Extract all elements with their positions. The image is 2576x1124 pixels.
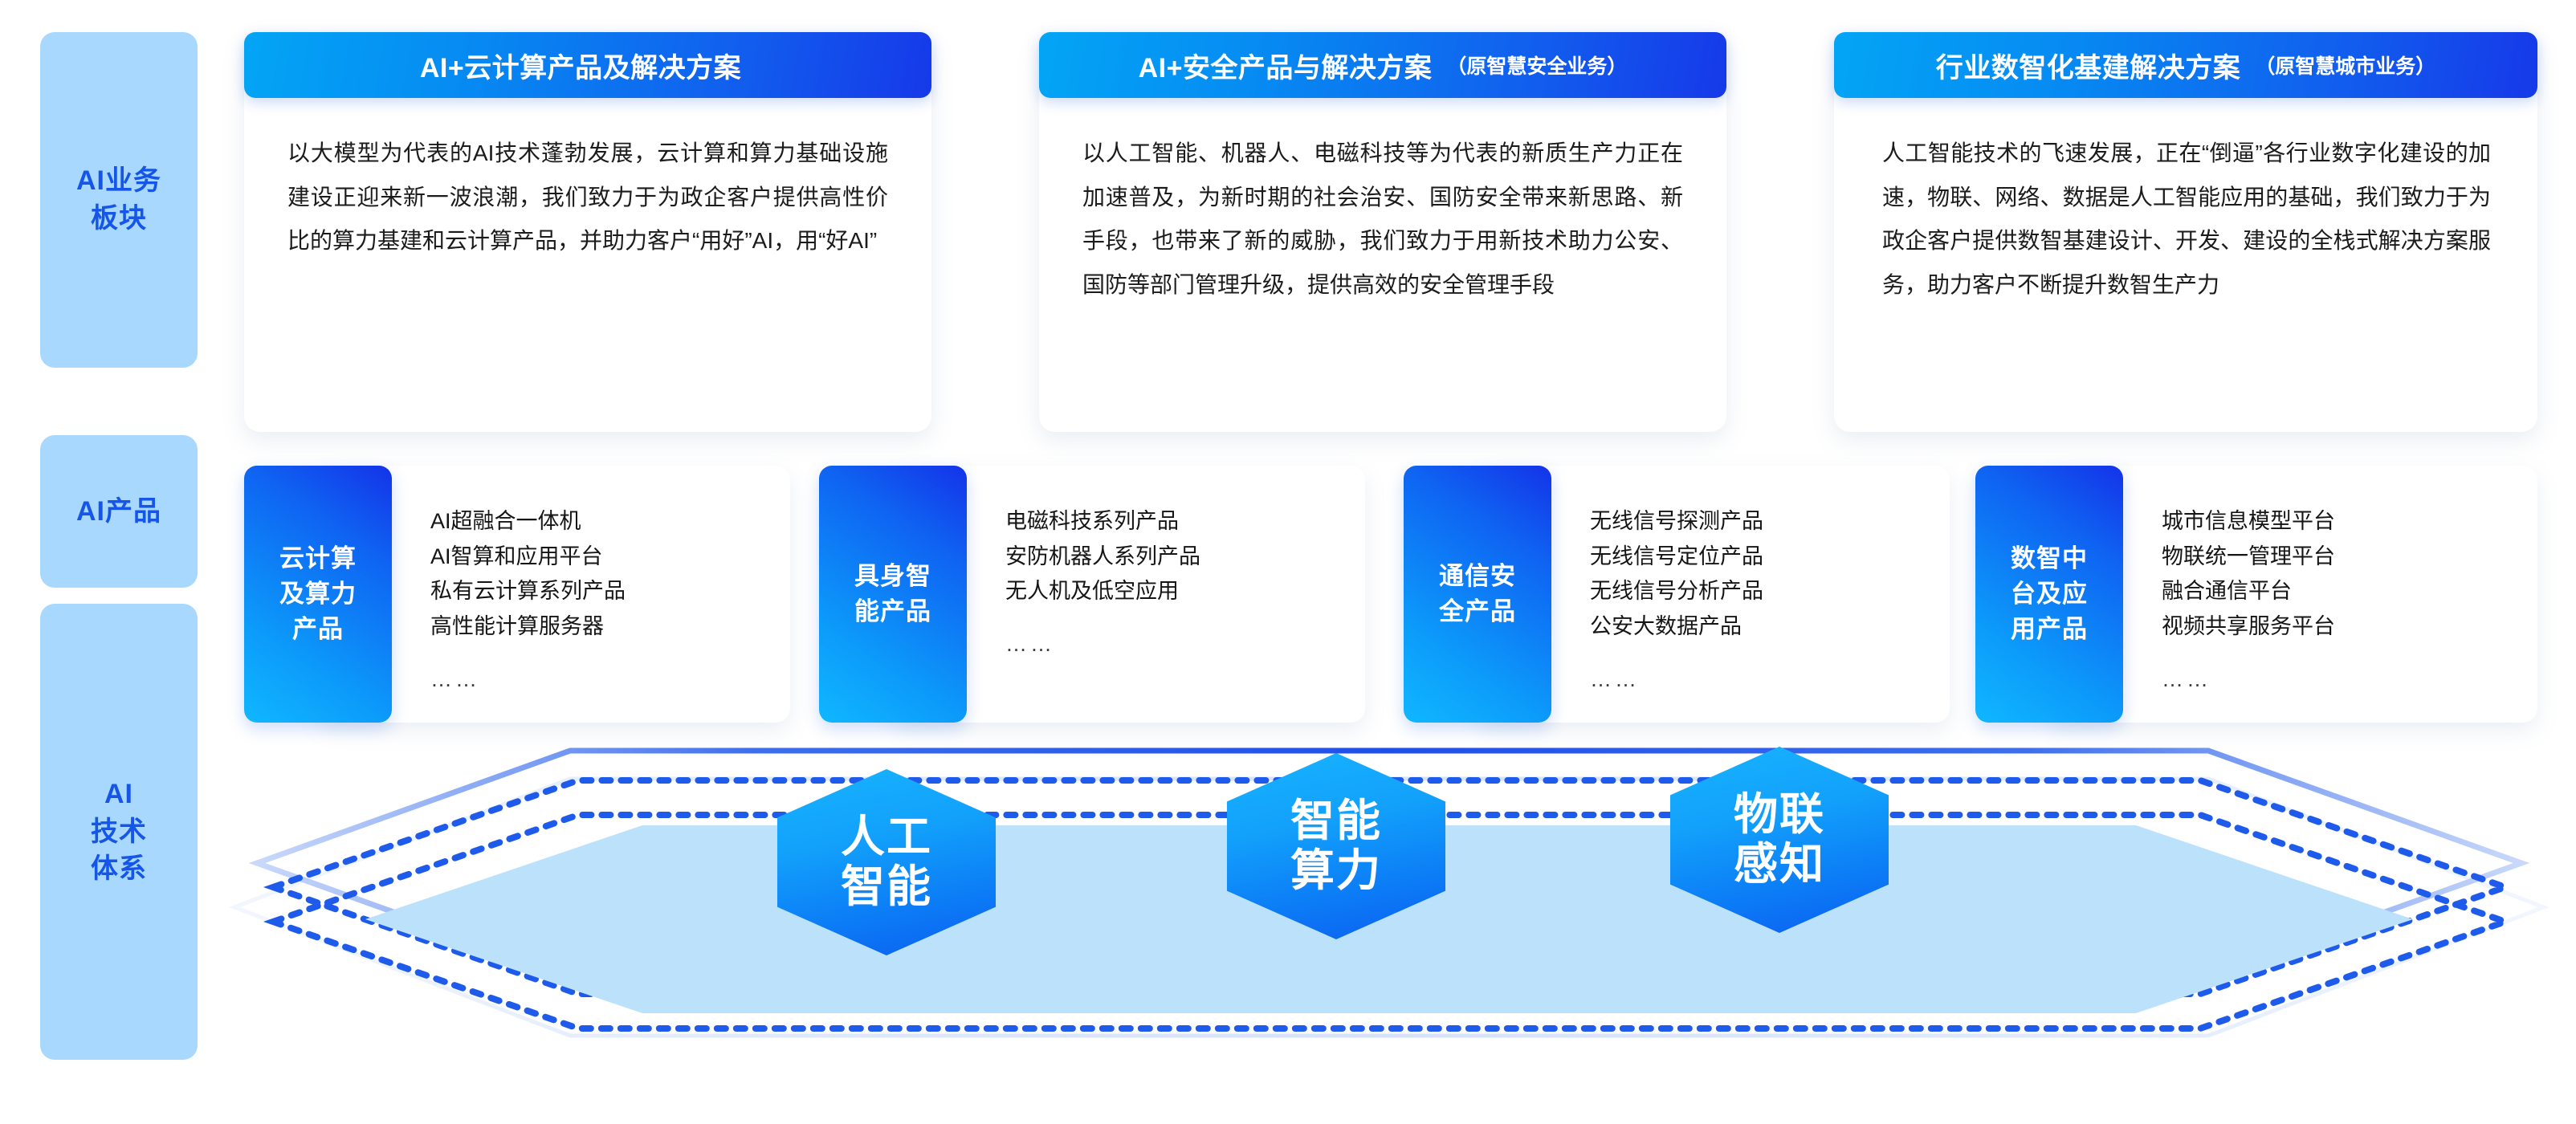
product-list-more: …… xyxy=(2162,662,2523,698)
product-list-item: 无线信号探测产品 xyxy=(1590,504,1935,540)
product-category-label: 数智中台及应用产品 xyxy=(2011,541,2088,647)
business-card: 行业数智化基建解决方案 （原智慧城市业务） 人工智能技术的飞速发展，正在“倒逼”… xyxy=(1834,32,2537,432)
business-card-body: 以大模型为代表的AI技术蓬勃发展，云计算和算力基础设施建设正迎来新一波浪潮，我们… xyxy=(244,98,931,263)
product-list-item: 物联统一管理平台 xyxy=(2162,540,2523,575)
product-list-item: 无人机及低空应用 xyxy=(1005,574,1351,609)
product-list-items: 城市信息模型平台物联统一管理平台融合通信平台视频共享服务平台 xyxy=(2162,504,2523,645)
product-group: 云计算及算力产品 AI超融合一体机AI智算和应用平台私有云计算系列产品高性能计算… xyxy=(244,466,790,723)
product-category-label: 具身智能产品 xyxy=(854,559,931,629)
product-category-tag: 通信安全产品 xyxy=(1404,466,1551,723)
product-category-tag: 具身智能产品 xyxy=(819,466,967,723)
product-list-items: 无线信号探测产品无线信号定位产品无线信号分析产品公安大数据产品 xyxy=(1590,504,1935,645)
product-item-list: 城市信息模型平台物联统一管理平台融合通信平台视频共享服务平台 …… xyxy=(2162,504,2523,698)
hexagon-line-2: 感知 xyxy=(1734,840,1825,890)
product-list-more: …… xyxy=(1590,662,1935,698)
product-list-item: 城市信息模型平台 xyxy=(2162,504,2523,540)
business-card-header: 行业数智化基建解决方案 （原智慧城市业务） xyxy=(1834,32,2537,98)
product-list-item: 安防机器人系列产品 xyxy=(1005,540,1351,575)
product-item-list: AI超融合一体机AI智算和应用平台私有云计算系列产品高性能计算服务器 …… xyxy=(430,504,776,698)
product-group: 通信安全产品 无线信号探测产品无线信号定位产品无线信号分析产品公安大数据产品 …… xyxy=(1404,466,1950,723)
product-list-item: AI超融合一体机 xyxy=(430,504,776,540)
business-card-subtitle: （原智慧安全业务） xyxy=(1446,51,1627,79)
business-card-header: AI+安全产品与解决方案 （原智慧安全业务） xyxy=(1039,32,1726,98)
business-card-body: 人工智能技术的飞速发展，正在“倒逼”各行业数字化建设的加速，物联、网络、数据是人… xyxy=(1834,98,2537,307)
product-list-more: …… xyxy=(430,662,776,698)
product-item-list: 电磁科技系列产品安防机器人系列产品无人机及低空应用 …… xyxy=(1005,504,1351,662)
rail-item-ai-business-segment: AI业务板块 xyxy=(40,32,198,368)
rail-label-ai-business-segment: AI业务板块 xyxy=(76,162,161,238)
hexagon-line-2: 智能 xyxy=(841,862,932,912)
business-card-subtitle: （原智慧城市业务） xyxy=(2255,51,2435,79)
business-card: AI+安全产品与解决方案 （原智慧安全业务） 以人工智能、机器人、电磁科技等为代… xyxy=(1039,32,1726,432)
rail-item-ai-products: AI产品 xyxy=(40,435,198,588)
product-list-items: AI超融合一体机AI智算和应用平台私有云计算系列产品高性能计算服务器 xyxy=(430,504,776,645)
product-list-more: …… xyxy=(1005,627,1351,662)
product-list-item: 无线信号分析产品 xyxy=(1590,574,1935,609)
product-category-label: 通信安全产品 xyxy=(1439,559,1516,629)
product-list-item: 无线信号定位产品 xyxy=(1590,540,1935,575)
business-card-title: AI+云计算产品及解决方案 xyxy=(420,46,741,85)
rail-item-ai-tech-system: AI技术体系 xyxy=(40,604,198,1060)
product-list-item: 高性能计算服务器 xyxy=(430,609,776,645)
product-category-tag: 云计算及算力产品 xyxy=(244,466,392,723)
product-list-items: 电磁科技系列产品安防机器人系列产品无人机及低空应用 xyxy=(1005,504,1351,609)
business-card-header: AI+云计算产品及解决方案 xyxy=(244,32,931,98)
product-list-item: AI智算和应用平台 xyxy=(430,540,776,575)
business-card: AI+云计算产品及解决方案 以大模型为代表的AI技术蓬勃发展，云计算和算力基础设… xyxy=(244,32,931,432)
product-list-item: 融合通信平台 xyxy=(2162,574,2523,609)
tech-system-platform: 人工 智能 智能 算力 物联 感知 xyxy=(225,723,2554,1124)
product-category-label: 云计算及算力产品 xyxy=(279,541,357,647)
hexagon-line-2: 算力 xyxy=(1290,846,1382,896)
rail-label-ai-products: AI产品 xyxy=(76,493,161,531)
product-list-item: 视频共享服务平台 xyxy=(2162,609,2523,645)
product-category-tag: 数智中台及应用产品 xyxy=(1975,466,2123,723)
rail-label-ai-tech-system: AI技术体系 xyxy=(91,776,147,889)
product-group: 具身智能产品 电磁科技系列产品安防机器人系列产品无人机及低空应用 …… xyxy=(819,466,1365,723)
diagram-canvas: AI业务板块 AI产品 AI技术体系 AI+云计算产品及解决方案 以大模型为代表… xyxy=(0,0,2576,1124)
product-list-item: 电磁科技系列产品 xyxy=(1005,504,1351,540)
business-card-title: 行业数智化基建解决方案 xyxy=(1936,46,2241,85)
product-list-item: 公安大数据产品 xyxy=(1590,609,1935,645)
business-card-title: AI+安全产品与解决方案 xyxy=(1139,46,1433,85)
product-group: 数智中台及应用产品 城市信息模型平台物联统一管理平台融合通信平台视频共享服务平台… xyxy=(1975,466,2537,723)
business-card-body: 以人工智能、机器人、电磁科技等为代表的新质生产力正在加速普及，为新时期的社会治安… xyxy=(1039,98,1726,307)
hexagon-line-1: 人工 xyxy=(841,812,932,862)
hexagon-line-1: 物联 xyxy=(1734,790,1825,840)
hexagon-line-1: 智能 xyxy=(1290,796,1382,846)
product-list-item: 私有云计算系列产品 xyxy=(430,574,776,609)
product-item-list: 无线信号探测产品无线信号定位产品无线信号分析产品公安大数据产品 …… xyxy=(1590,504,1935,698)
